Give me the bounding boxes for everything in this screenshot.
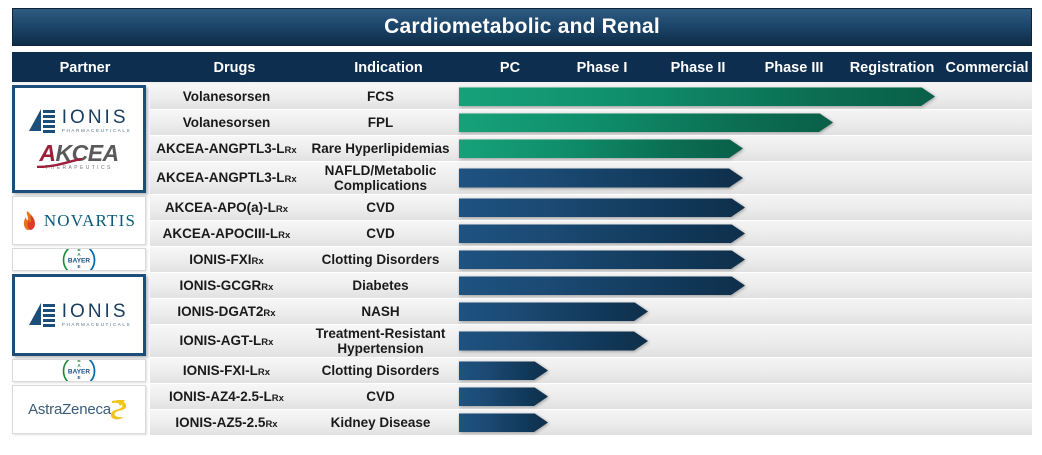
- progress-bar-phase-ii[interactable]: [459, 198, 745, 217]
- indication-cell: Clotting Disorders: [303, 358, 458, 384]
- ionis-sail-icon: [27, 108, 57, 134]
- table-row[interactable]: AKCEA-ANGPTL3-LRxRare Hyperlipidemias: [150, 136, 1032, 162]
- partner-logo-stack: BAYERBAER: [13, 359, 145, 382]
- partner-logo-stack: AstraZeneca: [13, 398, 145, 422]
- indication-cell: CVD: [303, 195, 458, 221]
- drug-name-cell: IONIS-AZ5-2.5Rx: [150, 410, 303, 436]
- progress-bar-fill: [459, 198, 745, 217]
- table-row[interactable]: IONIS-AGT-LRxTreatment-Resistant Hyperte…: [150, 325, 1032, 358]
- phase-track: [458, 273, 1032, 299]
- indication-cell: CVD: [303, 221, 458, 247]
- progress-bar-phase-iii[interactable]: [459, 113, 833, 132]
- drug-name-cell: IONIS-AGT-LRx: [150, 325, 303, 358]
- bayer-cross-icon: BAYERBAER: [62, 248, 96, 271]
- drug-name-cell: IONIS-AZ4-2.5-LRx: [150, 384, 303, 410]
- progress-bar-phase-ii[interactable]: [459, 224, 745, 243]
- ionis-wordmark: IONIS: [62, 108, 129, 127]
- indication-cell: Rare Hyperlipidemias: [303, 136, 458, 162]
- progress-bar-fill: [459, 87, 935, 106]
- progress-bar-fill: [459, 139, 743, 158]
- progress-bar-phase-i[interactable]: [459, 332, 648, 351]
- table-row[interactable]: IONIS-FXIRxClotting Disorders: [150, 247, 1032, 273]
- drug-name-cell: IONIS-FXI-LRx: [150, 358, 303, 384]
- progress-bar-fill: [459, 250, 745, 269]
- indication-cell: Diabetes: [303, 273, 458, 299]
- indication-cell: Kidney Disease: [303, 410, 458, 436]
- phase-track: [458, 84, 1032, 110]
- table-row[interactable]: IONIS-AZ4-2.5-LRxCVD: [150, 384, 1032, 410]
- phase-track: [458, 247, 1032, 273]
- novartis-logo: NOVARTIS: [22, 211, 136, 231]
- column-header-phase3: Phase III: [746, 52, 842, 84]
- partner-logo-stack: NOVARTIS: [13, 211, 145, 231]
- drug-name-cell: AKCEA-APOCIII-LRx: [150, 221, 303, 247]
- column-header-indication: Indication: [311, 52, 466, 84]
- progress-bar-phase-ii[interactable]: [459, 250, 745, 269]
- progress-bar-phase-ii[interactable]: [459, 276, 745, 295]
- drug-name-cell: Volanesorsen: [150, 84, 303, 110]
- chart-body: IONISPHARMACEUTICALSAKCEATHERAPEUTICSNOV…: [0, 84, 1042, 455]
- column-header-pc: PC: [466, 52, 554, 84]
- phase-track: [458, 299, 1032, 325]
- drug-name-cell: IONIS-DGAT2Rx: [150, 299, 303, 325]
- partner-cell[interactable]: NOVARTIS: [12, 196, 146, 245]
- akcea-logo: AKCEATHERAPEUTICS: [39, 142, 118, 171]
- drug-name-cell: AKCEA-APO(a)-LRx: [150, 195, 303, 221]
- bayer-cross-icon: BAYERBAER: [62, 359, 96, 382]
- progress-bar-phase-ii[interactable]: [459, 139, 743, 158]
- phase-track: [458, 136, 1032, 162]
- phase-track: [458, 358, 1032, 384]
- astrazeneca-logo: AstraZeneca: [28, 398, 130, 422]
- progress-bar-fill: [459, 413, 548, 432]
- svg-text:A: A: [77, 363, 81, 368]
- astrazeneca-swirl-icon: [108, 398, 130, 422]
- progress-bar-fill: [459, 224, 745, 243]
- phase-track: [458, 110, 1032, 136]
- table-row[interactable]: VolanesorsenFCS: [150, 84, 1032, 110]
- svg-text:R: R: [77, 380, 81, 383]
- novartis-wordmark: NOVARTIS: [44, 211, 136, 231]
- table-row[interactable]: AKCEA-ANGPTL3-LRxNAFLD/Metabolic Complic…: [150, 162, 1032, 195]
- indication-cell: Treatment-Resistant Hypertension: [303, 325, 458, 358]
- progress-bar-pc[interactable]: [459, 413, 548, 432]
- indication-cell: NAFLD/Metabolic Complications: [303, 162, 458, 195]
- phase-track: [458, 384, 1032, 410]
- progress-bar-fill: [459, 332, 648, 351]
- partner-logo-stack: BAYERBAER: [13, 248, 145, 271]
- column-header-phase2: Phase II: [650, 52, 746, 84]
- svg-text:R: R: [77, 269, 81, 272]
- progress-bar-fill: [459, 387, 548, 406]
- ionis-logo: IONISPHARMACEUTICALS: [27, 108, 131, 134]
- phase-track: [458, 410, 1032, 436]
- drug-name-cell: IONIS-FXIRx: [150, 247, 303, 273]
- akcea-wordmark: AKCEA: [39, 142, 118, 165]
- pipeline-chart: Cardiometabolic and Renal PartnerDrugsIn…: [0, 0, 1042, 455]
- table-row[interactable]: IONIS-GCGRRxDiabetes: [150, 273, 1032, 299]
- phase-track: [458, 162, 1032, 195]
- progress-bar-pc[interactable]: [459, 361, 548, 380]
- drug-name-cell: AKCEA-ANGPTL3-LRx: [150, 136, 303, 162]
- drug-name-cell: AKCEA-ANGPTL3-LRx: [150, 162, 303, 195]
- drug-name-cell: IONIS-GCGRRx: [150, 273, 303, 299]
- progress-bar-phase-i[interactable]: [459, 302, 648, 321]
- partner-logo-stack: IONISPHARMACEUTICALSAKCEATHERAPEUTICS: [15, 108, 143, 171]
- partner-cell[interactable]: IONISPHARMACEUTICALS: [12, 274, 146, 356]
- progress-bar-fill: [459, 361, 548, 380]
- partner-cell[interactable]: AstraZeneca: [12, 385, 146, 434]
- progress-bar-fill: [459, 276, 745, 295]
- column-header-partner: Partner: [12, 52, 158, 84]
- indication-cell: CVD: [303, 384, 458, 410]
- akcea-swoosh-icon: [37, 158, 129, 168]
- table-row[interactable]: IONIS-DGAT2RxNASH: [150, 299, 1032, 325]
- table-row[interactable]: IONIS-FXI-LRxClotting Disorders: [150, 358, 1032, 384]
- partner-cell[interactable]: BAYERBAER: [12, 359, 146, 382]
- drug-name-cell: Volanesorsen: [150, 110, 303, 136]
- table-row[interactable]: IONIS-AZ5-2.5RxKidney Disease: [150, 410, 1032, 436]
- progress-bar-phase-ii[interactable]: [459, 169, 743, 188]
- ionis-logo: IONISPHARMACEUTICALS: [27, 302, 131, 328]
- phase-track: [458, 325, 1032, 358]
- astrazeneca-wordmark: AstraZeneca: [28, 401, 111, 418]
- ionis-tagline: PHARMACEUTICALS: [62, 323, 131, 328]
- table-row[interactable]: VolanesorsenFPL: [150, 110, 1032, 136]
- partner-cell[interactable]: BAYERBAER: [12, 248, 146, 271]
- ionis-sail-icon: [27, 302, 57, 328]
- bayer-logo: BAYERBAER: [62, 359, 96, 382]
- column-header-row: PartnerDrugsIndicationPCPhase IPhase IIP…: [12, 52, 1032, 84]
- chart-title-bar: Cardiometabolic and Renal: [12, 8, 1032, 46]
- column-header-commercial: Commercial: [942, 52, 1032, 84]
- indication-cell: FCS: [303, 84, 458, 110]
- svg-text:A: A: [77, 252, 81, 257]
- partner-logo-stack: IONISPHARMACEUTICALS: [15, 302, 143, 328]
- novartis-flame-icon: [22, 211, 38, 231]
- column-header-drugs: Drugs: [158, 52, 311, 84]
- page-title: Cardiometabolic and Renal: [384, 15, 660, 39]
- indication-cell: FPL: [303, 110, 458, 136]
- indication-cell: NASH: [303, 299, 458, 325]
- table-row[interactable]: AKCEA-APO(a)-LRxCVD: [150, 195, 1032, 221]
- progress-bar-fill: [459, 169, 743, 188]
- progress-bar-pc[interactable]: [459, 387, 548, 406]
- phase-track: [458, 195, 1032, 221]
- ionis-tagline: PHARMACEUTICALS: [62, 129, 131, 134]
- ionis-wordmark: IONIS: [62, 302, 129, 321]
- phase-track: [458, 221, 1032, 247]
- bayer-logo: BAYERBAER: [62, 248, 96, 271]
- table-row[interactable]: AKCEA-APOCIII-LRxCVD: [150, 221, 1032, 247]
- column-header-phase1: Phase I: [554, 52, 650, 84]
- progress-bar-registration[interactable]: [459, 87, 935, 106]
- indication-cell: Clotting Disorders: [303, 247, 458, 273]
- progress-bar-fill: [459, 302, 648, 321]
- progress-bar-fill: [459, 113, 833, 132]
- partner-cell[interactable]: IONISPHARMACEUTICALSAKCEATHERAPEUTICS: [12, 85, 146, 193]
- column-header-registration: Registration: [842, 52, 942, 84]
